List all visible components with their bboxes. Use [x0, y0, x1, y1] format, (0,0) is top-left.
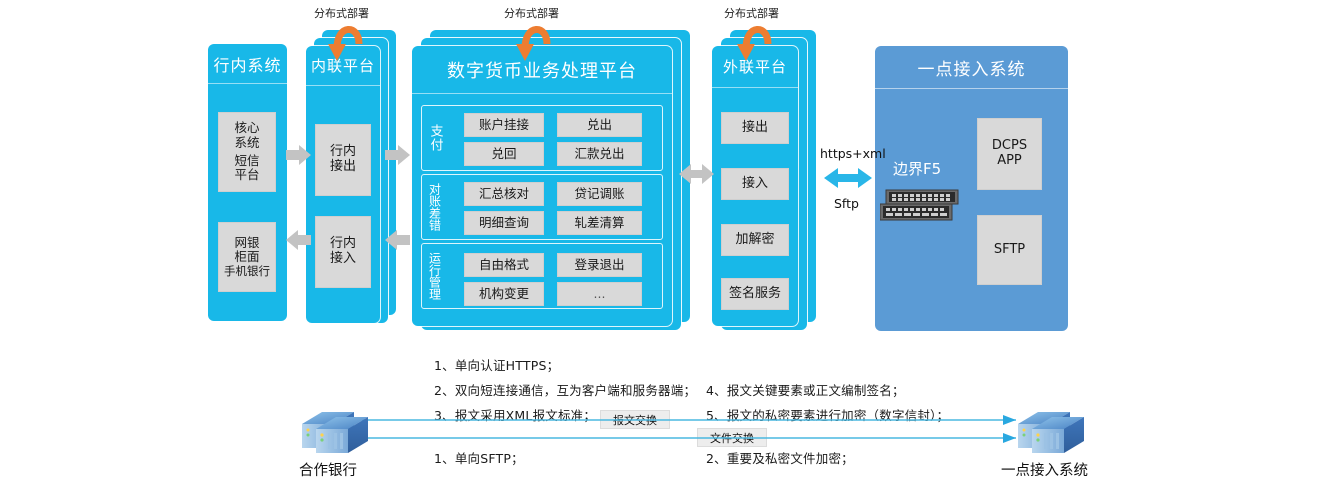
chip-summary-check[interactable]: 汇总核对 — [464, 182, 544, 206]
chip-login-logout[interactable]: 登录退出 — [557, 253, 642, 277]
note-left-1: 1、单向认证HTTPS； — [434, 355, 559, 374]
access-system-caption: 一点接入系统 — [1001, 459, 1088, 480]
chip-intranet-egress-line-2: 接出 — [330, 160, 356, 175]
tag-file-exchange: 文件交换 — [697, 428, 767, 447]
chip-intranet-ingress-line-2: 接入 — [330, 252, 356, 267]
chip-external-egress[interactable]: 接出 — [721, 112, 789, 144]
chip-cash-back[interactable]: 兑回 — [464, 142, 544, 166]
chip-intranet-egress[interactable]: 行内 接出 — [315, 124, 371, 196]
note-left-3: 3、报文采用XML报文标准； — [434, 405, 596, 424]
access-system-server-icon — [1012, 404, 1092, 456]
panel-dcep-title: 数字货币业务处理平台 — [412, 46, 672, 94]
chip-more[interactable]: ... — [557, 282, 642, 306]
chip-dcps-app-line-2: APP — [997, 154, 1022, 169]
group-reconciliation-label: 对账差错 — [422, 175, 448, 239]
group-operations-label: 运行管理 — [422, 244, 448, 308]
chip-dcps-app-line-1: DCPS — [992, 139, 1027, 154]
note-right-4: 4、报文关键要素或正文编制签名； — [706, 380, 905, 399]
cyan-double-arrow-external-access — [824, 168, 872, 188]
chip-ebank-line-1: 网银 — [234, 236, 259, 250]
note-bottom-left: 1、单向SFTP； — [434, 448, 524, 467]
partner-bank-server-icon — [296, 404, 376, 456]
chip-signature-service[interactable]: 签名服务 — [721, 278, 789, 310]
note-right-5: 5、报文的私密要素进行加密（数字信封）； — [706, 405, 949, 424]
chip-account-binding[interactable]: 账户挂接 — [464, 113, 544, 137]
distributed-label-dcep: 分布式部署 — [504, 5, 559, 21]
group-payment-label: 支付 — [422, 106, 448, 170]
distributed-label-internal: 分布式部署 — [314, 5, 369, 21]
chip-cash-out[interactable]: 兑出 — [557, 113, 642, 137]
chip-ebank-line-2: 柜面 — [234, 250, 259, 264]
chip-free-format[interactable]: 自由格式 — [464, 253, 544, 277]
chip-core-system[interactable]: 核心 系统 短信 平台 — [218, 112, 276, 192]
f5-label: 边界F5 — [893, 158, 941, 179]
chip-ebank-counter-mobile[interactable]: 网银 柜面 手机银行 — [218, 222, 276, 292]
panel-internal-platform-title: 内联平台 — [306, 46, 380, 86]
panel-intranet-system-title: 行内系统 — [208, 44, 287, 84]
tag-message-exchange: 报文交换 — [600, 410, 670, 429]
chip-core-system-line-4: 平台 — [234, 168, 259, 182]
chip-ebank-line-3: 手机银行 — [224, 265, 270, 278]
chip-external-ingress[interactable]: 接入 — [721, 168, 789, 200]
chip-credit-adjust[interactable]: 贷记调账 — [557, 182, 642, 206]
note-bottom-right: 2、重要及私密文件加密； — [706, 448, 854, 467]
chip-detail-query[interactable]: 明细查询 — [464, 211, 544, 235]
chip-netting-settlement[interactable]: 轧差清算 — [557, 211, 642, 235]
link-label-sftp: Sftp — [834, 196, 859, 211]
chip-encrypt-decrypt[interactable]: 加解密 — [721, 224, 789, 256]
chip-core-system-line-1: 核心 — [234, 121, 259, 135]
chip-remittance-out[interactable]: 汇款兑出 — [557, 142, 642, 166]
chip-org-change[interactable]: 机构变更 — [464, 282, 544, 306]
chip-core-system-line-3: 短信 — [234, 154, 259, 168]
partner-bank-caption: 合作银行 — [299, 459, 357, 480]
note-left-2: 2、双向短连接通信，互为客户端和服务器端； — [434, 380, 696, 399]
link-label-https-xml: https+xml — [820, 146, 886, 161]
chip-intranet-ingress[interactable]: 行内 接入 — [315, 216, 371, 288]
distributed-label-external: 分布式部署 — [724, 5, 779, 21]
chip-intranet-ingress-line-1: 行内 — [330, 237, 356, 252]
chip-dcps-app[interactable]: DCPS APP — [977, 118, 1042, 190]
f5-device-icon — [880, 188, 966, 226]
chip-intranet-egress-line-1: 行内 — [330, 145, 356, 160]
chip-sftp[interactable]: SFTP — [977, 215, 1042, 285]
chip-core-system-line-2: 系统 — [234, 136, 259, 150]
panel-access-system-title: 一点接入系统 — [875, 46, 1068, 89]
panel-external-platform-title: 外联平台 — [712, 46, 798, 88]
